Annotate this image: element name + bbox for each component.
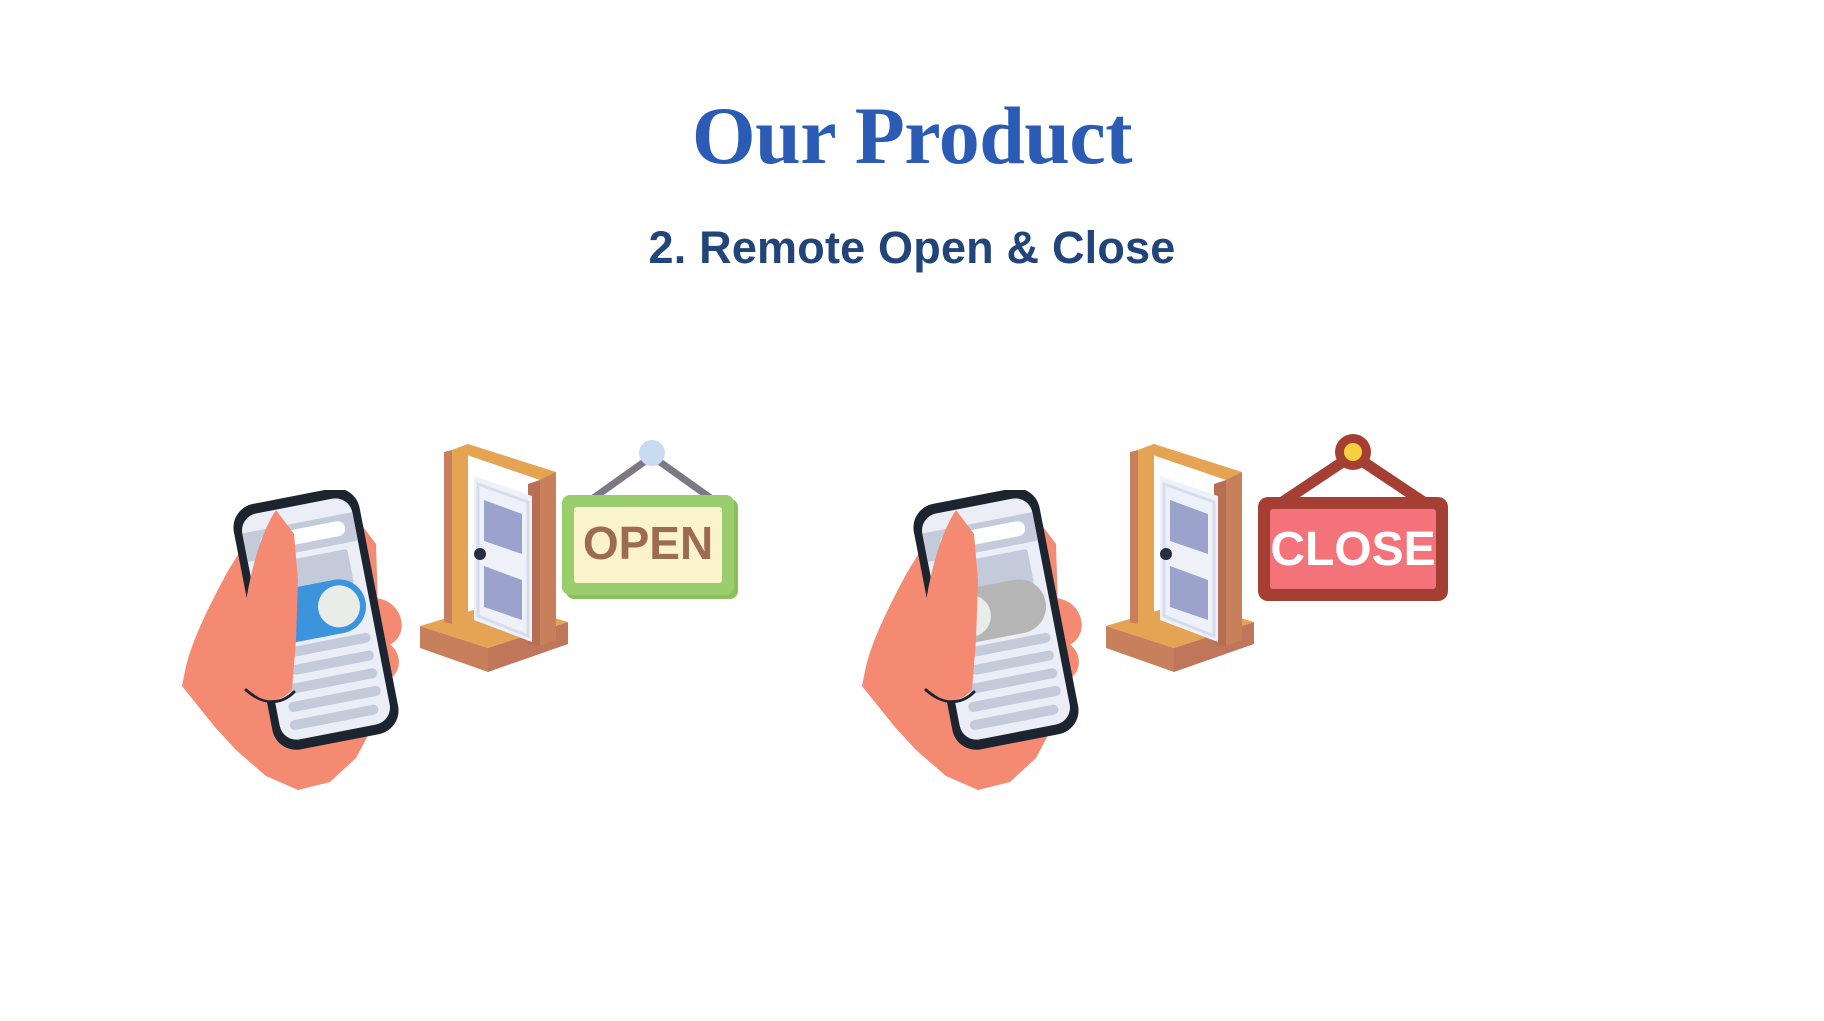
sign-board: OPEN [562, 495, 738, 599]
door-knob [474, 548, 486, 560]
sign-text-open: OPEN [583, 517, 713, 569]
hanging-sign-open: OPEN [552, 433, 752, 608]
scene-remote-open: OPEN [170, 430, 870, 860]
scene-remote-close: CLOSE [860, 430, 1680, 860]
door-knob [1160, 548, 1172, 560]
sign-board: CLOSE [1258, 497, 1448, 601]
sign-hanger-knob-icon [1344, 443, 1362, 461]
isometric-door-close-illustration [1102, 430, 1262, 700]
door-panel [1160, 476, 1218, 642]
door-jamb-left [1130, 444, 1154, 624]
page-subtitle: 2. Remote Open & Close [0, 225, 1824, 270]
slide-canvas: Our Product 2. Remote Open & Close [0, 0, 1824, 1021]
door-panel [474, 476, 532, 642]
hanging-sign-close: CLOSE [1248, 425, 1458, 610]
page-title: Our Product [0, 95, 1824, 177]
sign-text-close: CLOSE [1270, 523, 1435, 576]
sign-hanger-knob-icon [639, 440, 665, 466]
hand-holding-phone-open-illustration [180, 490, 430, 800]
door-jamb-left [444, 444, 468, 624]
hand-holding-phone-close-illustration [860, 490, 1110, 800]
door-jamb-right [1214, 472, 1242, 646]
